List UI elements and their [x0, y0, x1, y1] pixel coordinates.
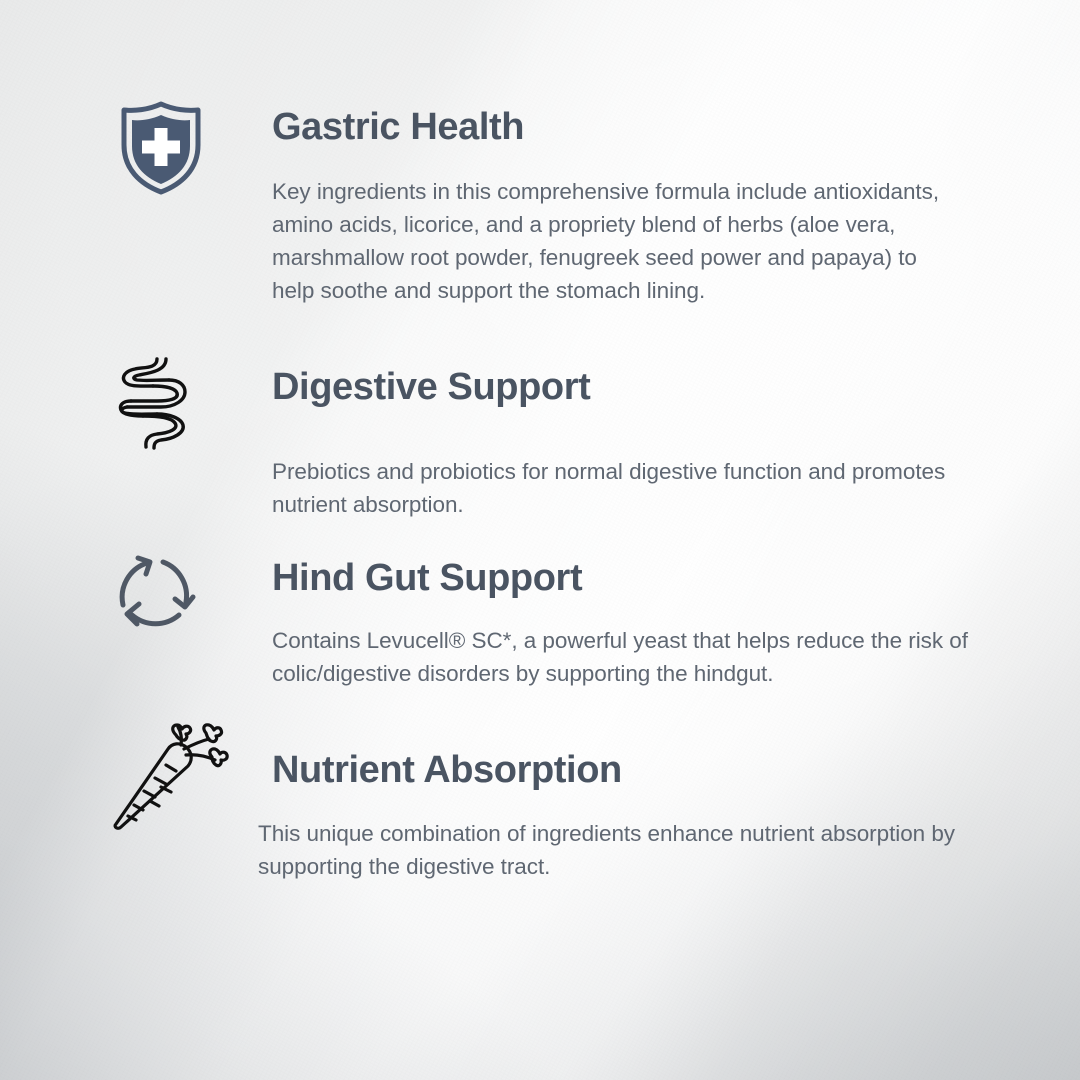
carrot-icon — [108, 723, 230, 833]
benefit-description: Key ingredients in this comprehensive fo… — [272, 175, 962, 307]
benefits-list: Gastric Health Key ingredients in this c… — [0, 0, 1080, 1080]
cycle-arrows-icon — [113, 549, 201, 637]
benefit-title: Hind Gut Support — [272, 559, 582, 597]
benefit-title: Digestive Support — [272, 368, 590, 406]
benefit-title: Gastric Health — [272, 108, 524, 146]
benefit-title: Nutrient Absorption — [272, 751, 622, 789]
benefit-description: Prebiotics and probiotics for normal dig… — [272, 455, 952, 521]
benefit-description: This unique combination of ingredients e… — [258, 817, 958, 883]
intestine-icon — [113, 355, 195, 451]
benefit-description: Contains Levucell® SC*, a powerful yeast… — [272, 624, 972, 690]
infographic-page: Gastric Health Key ingredients in this c… — [0, 0, 1080, 1080]
shield-plus-icon — [118, 101, 204, 195]
